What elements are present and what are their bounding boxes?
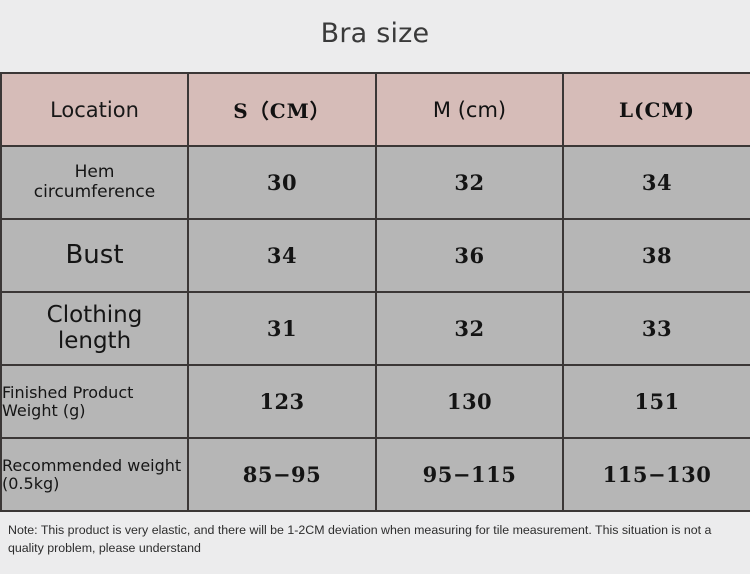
- cell-hem-l: 34: [563, 146, 750, 219]
- page-title: Bra size: [0, 0, 750, 72]
- column-header-s: S（CM）: [188, 73, 376, 146]
- cell-bust-l: 38: [563, 219, 750, 292]
- cell-hem-m: 32: [376, 146, 563, 219]
- cell-clothing-s: 31: [188, 292, 376, 365]
- cell-recommended-l: 115−130: [563, 438, 750, 511]
- cell-clothing-m: 32: [376, 292, 563, 365]
- cell-clothing-l: 33: [563, 292, 750, 365]
- row-label-hem-circumference: Hem circumference: [1, 146, 188, 219]
- row-label-bust: Bust: [1, 219, 188, 292]
- size-chart-page: Bra size Location S（CM） M (cm) L(CM) Hem…: [0, 0, 750, 574]
- cell-bust-s: 34: [188, 219, 376, 292]
- row-label-finished-product-weight: Finished Product Weight (g): [1, 365, 188, 438]
- row-label-line-1: Finished Product: [2, 384, 187, 402]
- cell-bust-m: 36: [376, 219, 563, 292]
- table-row: Hem circumference 30 32 34: [1, 146, 750, 219]
- table-row: Recommended weight (0.5kg) 85−95 95−115 …: [1, 438, 750, 511]
- cell-recommended-m: 95−115: [376, 438, 563, 511]
- cell-recommended-s: 85−95: [188, 438, 376, 511]
- row-label-recommended-weight: Recommended weight (0.5kg): [1, 438, 188, 511]
- row-label-line-1: Hem: [2, 163, 187, 182]
- table-row: Finished Product Weight (g) 123 130 151: [1, 365, 750, 438]
- row-label-line-1: Clothing: [2, 303, 187, 329]
- cell-weight-s: 123: [188, 365, 376, 438]
- row-label-line-1: Recommended weight: [2, 457, 187, 475]
- size-table: Location S（CM） M (cm) L(CM) Hem circumfe…: [0, 72, 750, 512]
- table-row: Clothing length 31 32 33: [1, 292, 750, 365]
- column-header-l: L(CM): [563, 73, 750, 146]
- row-label-clothing-length: Clothing length: [1, 292, 188, 365]
- cell-weight-l: 151: [563, 365, 750, 438]
- table-row: Bust 34 36 38: [1, 219, 750, 292]
- footer-note: Note: This product is very elastic, and …: [0, 522, 750, 558]
- column-header-m: M (cm): [376, 73, 563, 146]
- row-label-line-2: circumference: [2, 183, 187, 202]
- column-header-location: Location: [1, 73, 188, 146]
- row-label-line-2: Weight (g): [2, 402, 187, 420]
- cell-hem-s: 30: [188, 146, 376, 219]
- table-header-row: Location S（CM） M (cm) L(CM): [1, 73, 750, 146]
- row-label-line-2: (0.5kg): [2, 475, 187, 493]
- row-label-line-2: length: [2, 329, 187, 355]
- cell-weight-m: 130: [376, 365, 563, 438]
